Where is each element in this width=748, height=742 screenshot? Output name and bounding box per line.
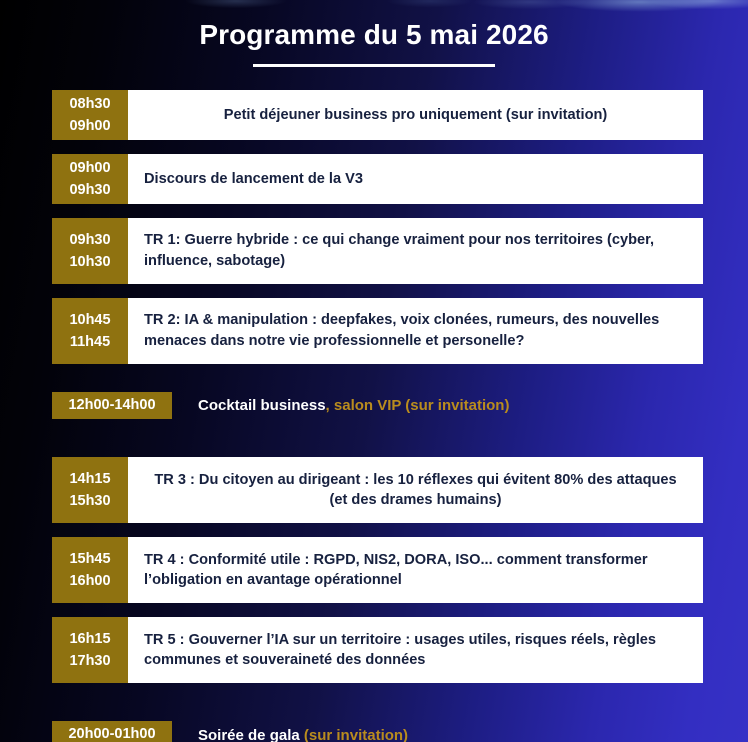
schedule-highlight-label-main: Soirée de gala [198, 727, 300, 742]
schedule-row-end: 16h00 [69, 570, 110, 592]
title-divider [253, 64, 495, 67]
schedule-row: 10h4511h45TR 2: IA & manipulation : deep… [52, 298, 703, 364]
schedule-row-gap [52, 140, 703, 154]
schedule-row-time: 16h1517h30 [52, 617, 128, 683]
schedule-row-title: Discours de lancement de la V3 [128, 154, 703, 204]
programme-page: Programme du 5 mai 2026 08h3009h00Petit … [0, 0, 748, 742]
schedule-highlight-label-note: (sur invitation) [300, 727, 408, 742]
schedule-row-end: 17h30 [69, 650, 110, 672]
schedule-row-gap [52, 603, 703, 617]
schedule-row-title: TR 5 : Gouverner l’IA sur un territoire … [128, 617, 703, 683]
page-header: Programme du 5 mai 2026 [0, 0, 748, 67]
page-title: Programme du 5 mai 2026 [0, 0, 748, 52]
schedule-row-time: 09h0009h30 [52, 154, 128, 204]
schedule-row-time: 15h4516h00 [52, 537, 128, 603]
schedule-highlight-label: Cocktail business, salon VIP (sur invita… [198, 397, 509, 414]
schedule-row-gap [52, 419, 703, 457]
schedule-row-title: TR 4 : Conformité utile : RGPD, NIS2, DO… [128, 537, 703, 603]
schedule-row-end: 11h45 [70, 331, 110, 353]
schedule-highlight-row: 12h00-14h00Cocktail business, salon VIP … [52, 392, 703, 419]
schedule-highlight-time-badge: 12h00-14h00 [52, 392, 172, 419]
schedule-row-start: 15h45 [69, 548, 110, 570]
schedule-row-end: 10h30 [69, 251, 110, 273]
schedule-row-start: 09h30 [69, 229, 110, 251]
schedule-highlight-label-main: Cocktail business [198, 397, 326, 414]
schedule-row-start: 09h00 [69, 157, 110, 179]
schedule-row-title: TR 1: Guerre hybride : ce qui change vra… [128, 218, 703, 284]
schedule-row-title: Petit déjeuner business pro uniquement (… [128, 90, 703, 140]
schedule-highlight-time-badge: 20h00-01h00 [52, 721, 172, 742]
schedule-list: 08h3009h00Petit déjeuner business pro un… [52, 90, 703, 742]
schedule-row: 09h3010h30TR 1: Guerre hybride : ce qui … [52, 218, 703, 284]
schedule-highlight-label: Soirée de gala (sur invitation) [198, 727, 408, 742]
schedule-row-gap [52, 364, 703, 392]
schedule-row-end: 09h30 [69, 179, 110, 201]
schedule-row-start: 16h15 [69, 628, 110, 650]
schedule-row-start: 10h45 [69, 309, 110, 331]
schedule-highlight-row: 20h00-01h00Soirée de gala (sur invitatio… [52, 721, 703, 742]
schedule-row-gap [52, 204, 703, 218]
schedule-row: 08h3009h00Petit déjeuner business pro un… [52, 90, 703, 140]
schedule-row-time: 10h4511h45 [52, 298, 128, 364]
schedule-row-gap [52, 523, 703, 537]
schedule-row-title: TR 3 : Du citoyen au dirigeant : les 10 … [128, 457, 703, 523]
schedule-row-time: 14h1515h30 [52, 457, 128, 523]
schedule-row: 09h0009h30Discours de lancement de la V3 [52, 154, 703, 204]
schedule-row: 15h4516h00TR 4 : Conformité utile : RGPD… [52, 537, 703, 603]
schedule-row-end: 09h00 [69, 115, 110, 137]
schedule-row-gap [52, 284, 703, 298]
schedule-row-time: 08h3009h00 [52, 90, 128, 140]
schedule-row-end: 15h30 [69, 490, 110, 512]
schedule-row-title: TR 2: IA & manipulation : deepfakes, voi… [128, 298, 703, 364]
schedule-row-time: 09h3010h30 [52, 218, 128, 284]
schedule-highlight-label-note: , salon VIP (sur invitation) [326, 397, 510, 414]
schedule-row-start: 14h15 [69, 468, 110, 490]
schedule-row: 14h1515h30TR 3 : Du citoyen au dirigeant… [52, 457, 703, 523]
schedule-row: 16h1517h30TR 5 : Gouverner l’IA sur un t… [52, 617, 703, 683]
schedule-row-gap [52, 683, 703, 721]
schedule-row-start: 08h30 [69, 93, 110, 115]
